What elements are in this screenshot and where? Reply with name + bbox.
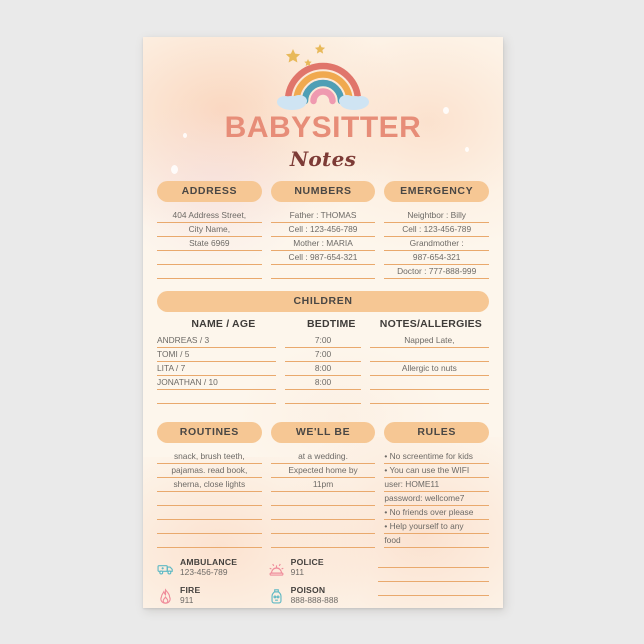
- rules-line[interactable]: password: wellcome7: [384, 492, 489, 506]
- rules-line[interactable]: • No screentime for kids: [384, 450, 489, 464]
- routines-line[interactable]: [157, 534, 262, 548]
- well-be-line[interactable]: [271, 492, 376, 506]
- routines-line[interactable]: [157, 520, 262, 534]
- emergency-line[interactable]: Doctor : 777-888-999: [384, 265, 489, 279]
- top-sections: 404 Address Street, City Name, State 696…: [157, 209, 489, 279]
- emergency-contacts-middle: POLICE 911 POISON: [268, 554, 379, 608]
- emergency-line[interactable]: 987-654-321: [384, 251, 489, 265]
- address-line[interactable]: State 6969: [157, 237, 262, 251]
- routines-line[interactable]: [157, 506, 262, 520]
- children-col-notes: NOTES/ALLERGIES: [373, 318, 489, 330]
- numbers-line[interactable]: Cell : 987-654-321: [271, 251, 376, 265]
- address-line[interactable]: City Name,: [157, 223, 262, 237]
- table-row[interactable]: [157, 390, 276, 404]
- section-heading-address: ADDRESS: [157, 181, 262, 202]
- emergency-contacts: AMBULANCE 123-456-789 FIRE 911: [157, 554, 489, 608]
- contact-poison[interactable]: POISON 888-888-888: [268, 582, 379, 608]
- rules-line[interactable]: user: HOME11: [384, 478, 489, 492]
- page-title: BABYSITTER: [157, 113, 489, 143]
- page-subtitle: Notes: [157, 147, 489, 171]
- numbers-column: Father : THOMAS Cell : 123-456-789 Mothe…: [271, 209, 376, 279]
- children-name-cells: ANDREAS / 3 TOMI / 5 LITA / 7 JONATHAN /…: [157, 334, 276, 404]
- cloud-icon: [277, 95, 369, 110]
- table-row[interactable]: Allergic to nuts: [370, 362, 489, 376]
- children-col-name: NAME / AGE: [157, 318, 290, 330]
- section-heading-routines: ROUTINES: [157, 422, 262, 443]
- emergency-contacts-left: AMBULANCE 123-456-789 FIRE 911: [157, 554, 268, 608]
- contact-number: 888-888-888: [291, 596, 339, 606]
- bottom-section-headings: ROUTINES WE'LL BE RULES: [157, 422, 489, 443]
- table-row[interactable]: [370, 348, 489, 362]
- table-row[interactable]: ANDREAS / 3: [157, 334, 276, 348]
- numbers-line[interactable]: Father : THOMAS: [271, 209, 376, 223]
- emergency-column: Neightbor : Billy Cell : 123-456-789 Gra…: [384, 209, 489, 279]
- contact-number: 123-456-789: [180, 568, 237, 578]
- address-line[interactable]: [157, 265, 262, 279]
- routines-line[interactable]: pajamas. read book,: [157, 464, 262, 478]
- table-row[interactable]: Napped Late,: [370, 334, 489, 348]
- rainbow-icon: [268, 43, 378, 115]
- children-table-body: ANDREAS / 3 TOMI / 5 LITA / 7 JONATHAN /…: [157, 334, 489, 404]
- table-row[interactable]: JONATHAN / 10: [157, 376, 276, 390]
- rules-column: • No screentime for kids • You can use t…: [384, 450, 489, 548]
- rules-line[interactable]: food: [384, 534, 489, 548]
- babysitter-notes-sheet: BABYSITTER Notes ADDRESS NUMBERS EMERGEN…: [143, 37, 503, 608]
- well-be-line[interactable]: [271, 534, 376, 548]
- address-column: 404 Address Street, City Name, State 696…: [157, 209, 262, 279]
- table-row[interactable]: [285, 390, 360, 404]
- rules-line[interactable]: • You can use the WIFI: [384, 464, 489, 478]
- children-notes-cells: Napped Late, Allergic to nuts: [370, 334, 489, 404]
- section-heading-emergency: EMERGENCY: [384, 181, 489, 202]
- bottom-sections: snack, brush teeth, pajamas. read book, …: [157, 450, 489, 548]
- poison-icon: [268, 588, 285, 605]
- contact-police[interactable]: POLICE 911: [268, 554, 379, 582]
- table-row[interactable]: LITA / 7: [157, 362, 276, 376]
- rules-overflow-lines: [378, 554, 489, 608]
- rules-line[interactable]: [378, 568, 489, 582]
- emergency-line[interactable]: Cell : 123-456-789: [384, 223, 489, 237]
- routines-column: snack, brush teeth, pajamas. read book, …: [157, 450, 262, 548]
- numbers-line[interactable]: Cell : 123-456-789: [271, 223, 376, 237]
- section-heading-rules: RULES: [384, 422, 489, 443]
- table-row[interactable]: [370, 376, 489, 390]
- routines-line[interactable]: [157, 492, 262, 506]
- table-row[interactable]: 8:00: [285, 362, 360, 376]
- rainbow-logo: [157, 43, 489, 115]
- ambulance-icon: [157, 560, 174, 577]
- children-table-header: NAME / AGE BEDTIME NOTES/ALLERGIES: [157, 318, 489, 330]
- table-row[interactable]: 7:00: [285, 334, 360, 348]
- routines-line[interactable]: snack, brush teeth,: [157, 450, 262, 464]
- table-row[interactable]: TOMI / 5: [157, 348, 276, 362]
- fire-icon: [157, 588, 174, 605]
- section-heading-well-be: WE'LL BE: [271, 422, 376, 443]
- well-be-line[interactable]: [271, 506, 376, 520]
- well-be-line[interactable]: 11pm: [271, 478, 376, 492]
- children-col-bedtime: BEDTIME: [290, 318, 373, 330]
- section-heading-children: CHILDREN: [157, 291, 489, 312]
- well-be-line[interactable]: at a wedding.: [271, 450, 376, 464]
- rules-line[interactable]: [378, 582, 489, 596]
- rules-line[interactable]: • No friends over please: [384, 506, 489, 520]
- table-row[interactable]: 7:00: [285, 348, 360, 362]
- table-row[interactable]: [370, 390, 489, 404]
- contact-ambulance[interactable]: AMBULANCE 123-456-789: [157, 554, 268, 582]
- section-heading-numbers: NUMBERS: [271, 181, 376, 202]
- well-be-column: at a wedding. Expected home by 11pm: [271, 450, 376, 548]
- contact-number: 911: [180, 596, 200, 606]
- top-section-headings: ADDRESS NUMBERS EMERGENCY: [157, 181, 489, 202]
- address-line[interactable]: 404 Address Street,: [157, 209, 262, 223]
- contact-number: 911: [291, 568, 324, 578]
- table-row[interactable]: 8:00: [285, 376, 360, 390]
- police-siren-icon: [268, 560, 285, 577]
- routines-line[interactable]: sherna, close lights: [157, 478, 262, 492]
- contact-fire[interactable]: FIRE 911: [157, 582, 268, 608]
- emergency-line[interactable]: Neightbor : Billy: [384, 209, 489, 223]
- emergency-line[interactable]: Grandmother :: [384, 237, 489, 251]
- screenshot-canvas: BABYSITTER Notes ADDRESS NUMBERS EMERGEN…: [0, 0, 644, 644]
- numbers-line[interactable]: [271, 265, 376, 279]
- star-icon: [286, 44, 325, 66]
- well-be-line[interactable]: [271, 520, 376, 534]
- address-line[interactable]: [157, 251, 262, 265]
- rules-line[interactable]: • Help yourself to any: [384, 520, 489, 534]
- numbers-line[interactable]: Mother : MARIA: [271, 237, 376, 251]
- children-bedtime-cells: 7:00 7:00 8:00 8:00: [285, 334, 360, 404]
- rules-line[interactable]: [378, 554, 489, 568]
- well-be-line[interactable]: Expected home by: [271, 464, 376, 478]
